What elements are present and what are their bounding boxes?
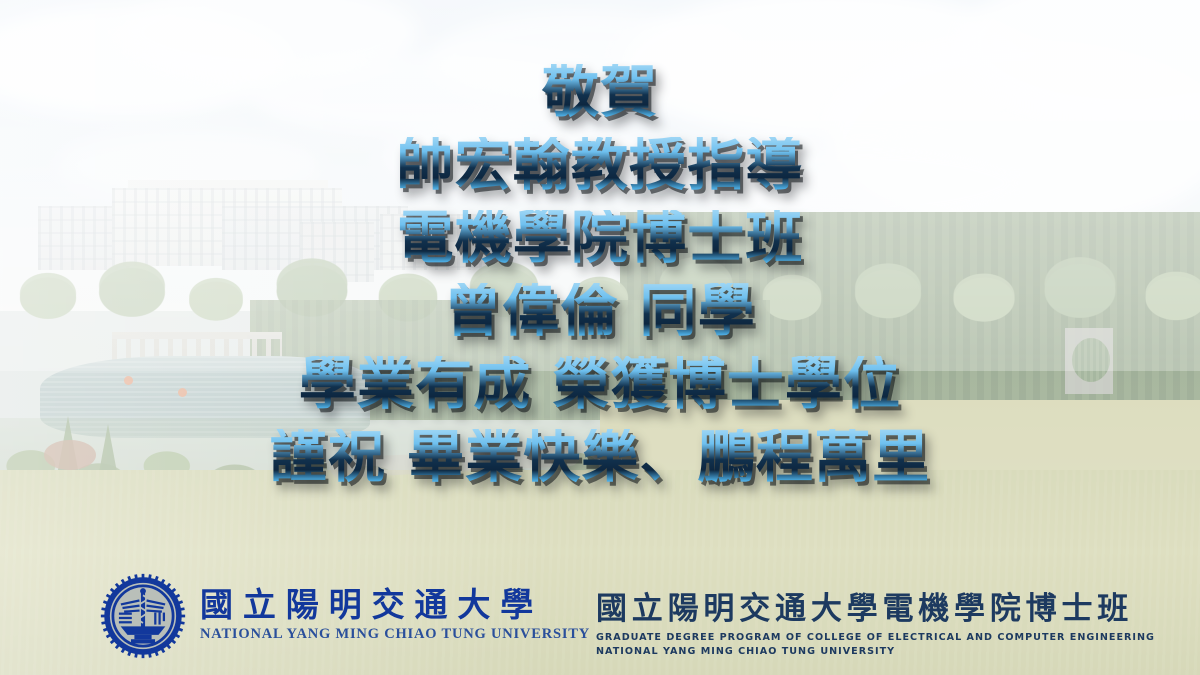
program-lockup: 國立陽明交通大學電機學院博士班 GRADUATE DEGREE PROGRAM … [596,592,1155,659]
university-name-cn: 國立陽明交通大學 [200,589,590,624]
footer-branding-bar: 國立陽明交通大學 NATIONAL YANG MING CHIAO TUNG U… [0,555,1200,675]
message-line-5: 學業有成 榮獲博士學位 [0,356,1200,413]
message-line-4: 曾偉倫 同學 [0,283,1200,340]
message-line-2: 帥宏翰教授指導 [0,137,1200,194]
university-lockup: 國立陽明交通大學 NATIONAL YANG MING CHIAO TUNG U… [100,573,590,659]
nycu-seal-icon [100,573,186,659]
program-name-en-line-2: NATIONAL YANG MING CHIAO TUNG UNIVERSITY [596,645,1155,659]
congratulation-card: 敬賀 帥宏翰教授指導 電機學院博士班 曾偉倫 同學 學業有成 榮獲博士學位 謹祝… [0,0,1200,675]
message-line-6: 謹祝 畢業快樂、鵬程萬里 [0,429,1200,486]
congratulation-message: 敬賀 帥宏翰教授指導 電機學院博士班 曾偉倫 同學 學業有成 榮獲博士學位 謹祝… [0,64,1200,486]
university-name-en: NATIONAL YANG MING CHIAO TUNG UNIVERSITY [200,626,590,643]
message-line-3: 電機學院博士班 [0,210,1200,267]
university-wordmark: 國立陽明交通大學 NATIONAL YANG MING CHIAO TUNG U… [200,589,590,643]
program-name-en-line-1: GRADUATE DEGREE PROGRAM OF COLLEGE OF EL… [596,631,1155,645]
program-name-en: GRADUATE DEGREE PROGRAM OF COLLEGE OF EL… [596,631,1155,659]
message-line-1: 敬賀 [0,64,1200,121]
program-name-cn: 國立陽明交通大學電機學院博士班 [596,592,1155,626]
